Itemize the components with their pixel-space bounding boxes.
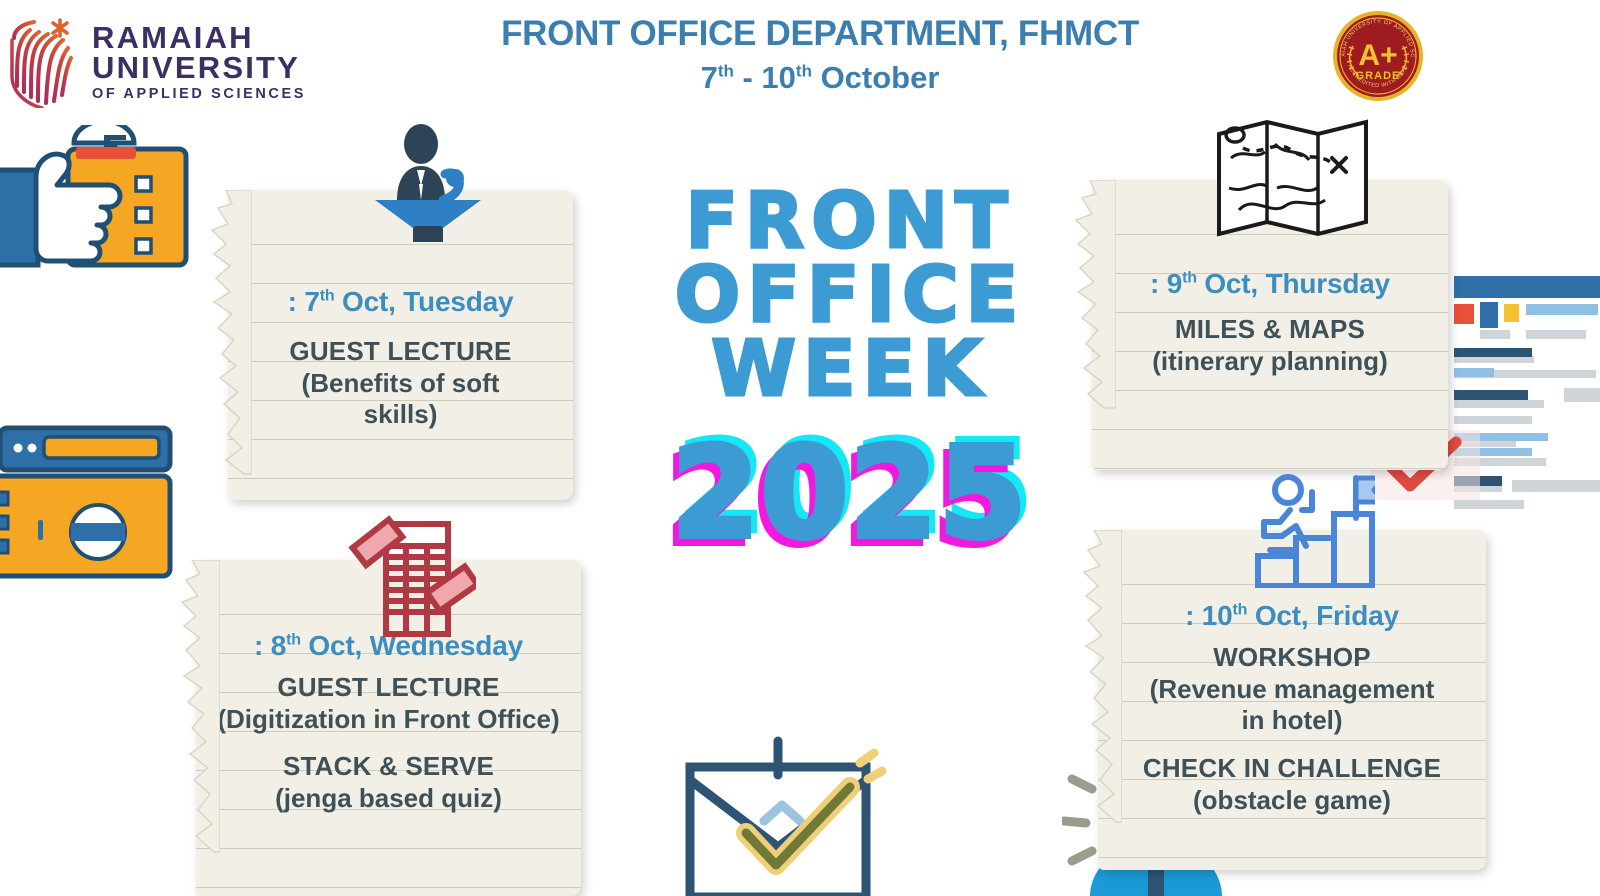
title-line-1: FRONT [640, 185, 1060, 259]
ramaiah-shield-icon [8, 16, 78, 108]
logo-line-2: UNIVERSITY [92, 53, 306, 83]
center-title-block: FRONT OFFICE WEEK 2025 2025 2025 [640, 185, 1060, 556]
dashboard-window-icon [0, 420, 177, 585]
logo-line-3: OF APPLIED SCIENCES [92, 87, 306, 101]
torn-paper-edge [1070, 180, 1116, 470]
folded-map-icon [1215, 118, 1370, 243]
title-line-3: WEEK [640, 333, 1060, 407]
card-oct-7-line-3: skills) [246, 399, 555, 431]
torn-paper-edge [1076, 530, 1122, 870]
header-block: FRONT OFFICE DEPARTMENT, FHMCT 7th - 10t… [420, 14, 1220, 96]
year-block: 2025 2025 2025 [640, 421, 1060, 556]
podium-speaker-icon [373, 122, 483, 242]
naac-a-plus-grade-badge: MS RAMAIAH UNIVERSITY OF APPLIED SCIENCE… [1323, 8, 1433, 104]
card-oct-7-line-1: GUEST LECTURE [246, 336, 555, 368]
card-oct-10-date: : 10th Oct, Friday [1106, 600, 1478, 632]
card-oct-9-line-2: (itinerary planning) [1102, 346, 1438, 378]
university-logo: RAMAIAH UNIVERSITY OF APPLIED SCIENCES [8, 12, 348, 112]
torn-paper-edge [174, 560, 220, 896]
year-main-layer: 2025 [640, 421, 1060, 566]
card-oct-7-date: : 7th Oct, Tuesday [246, 286, 555, 318]
card-oct-9-line-1: MILES & MAPS [1102, 314, 1438, 346]
badge-grade-letter: A+ [1358, 39, 1397, 72]
card-oct-7-line-2: (Benefits of soft [246, 368, 555, 400]
department-title: FRONT OFFICE DEPARTMENT, FHMCT [420, 14, 1220, 54]
event-date-range: 7th - 10th October [420, 60, 1220, 96]
card-oct-8-line-2: (Digitization in Front Office) [204, 704, 573, 736]
logo-line-1: RAMAIAH [92, 23, 306, 53]
card-oct-10-line-3: in hotel) [1106, 705, 1478, 737]
title-line-2: OFFICE [640, 259, 1060, 333]
card-oct-10-line-4: CHECK IN CHALLENGE [1106, 753, 1478, 785]
card-oct-10-line-5: (obstacle game) [1106, 785, 1478, 817]
envelope-checkmark-icon [668, 735, 888, 896]
badge-grade-label: GRADE [1356, 70, 1401, 82]
card-oct-8-line-1: GUEST LECTURE [204, 672, 573, 704]
card-oct-8-line-4: (jenga based quiz) [204, 783, 573, 815]
card-oct-10-line-2: (Revenue management [1106, 674, 1478, 706]
card-oct-9-date: : 9th Oct, Thursday [1102, 268, 1438, 300]
card-oct-10-line-1: WORKSHOP [1106, 642, 1478, 674]
poster-canvas: RAMAIAH UNIVERSITY OF APPLIED SCIENCES F… [0, 0, 1600, 896]
torn-paper-edge [206, 190, 252, 500]
stairs-climb-flag-icon [1240, 468, 1375, 588]
card-oct-8-line-3: STACK & SERVE [204, 751, 573, 783]
hand-clipboard-checklist-icon [0, 125, 196, 290]
jenga-tower-icon [348, 510, 476, 638]
